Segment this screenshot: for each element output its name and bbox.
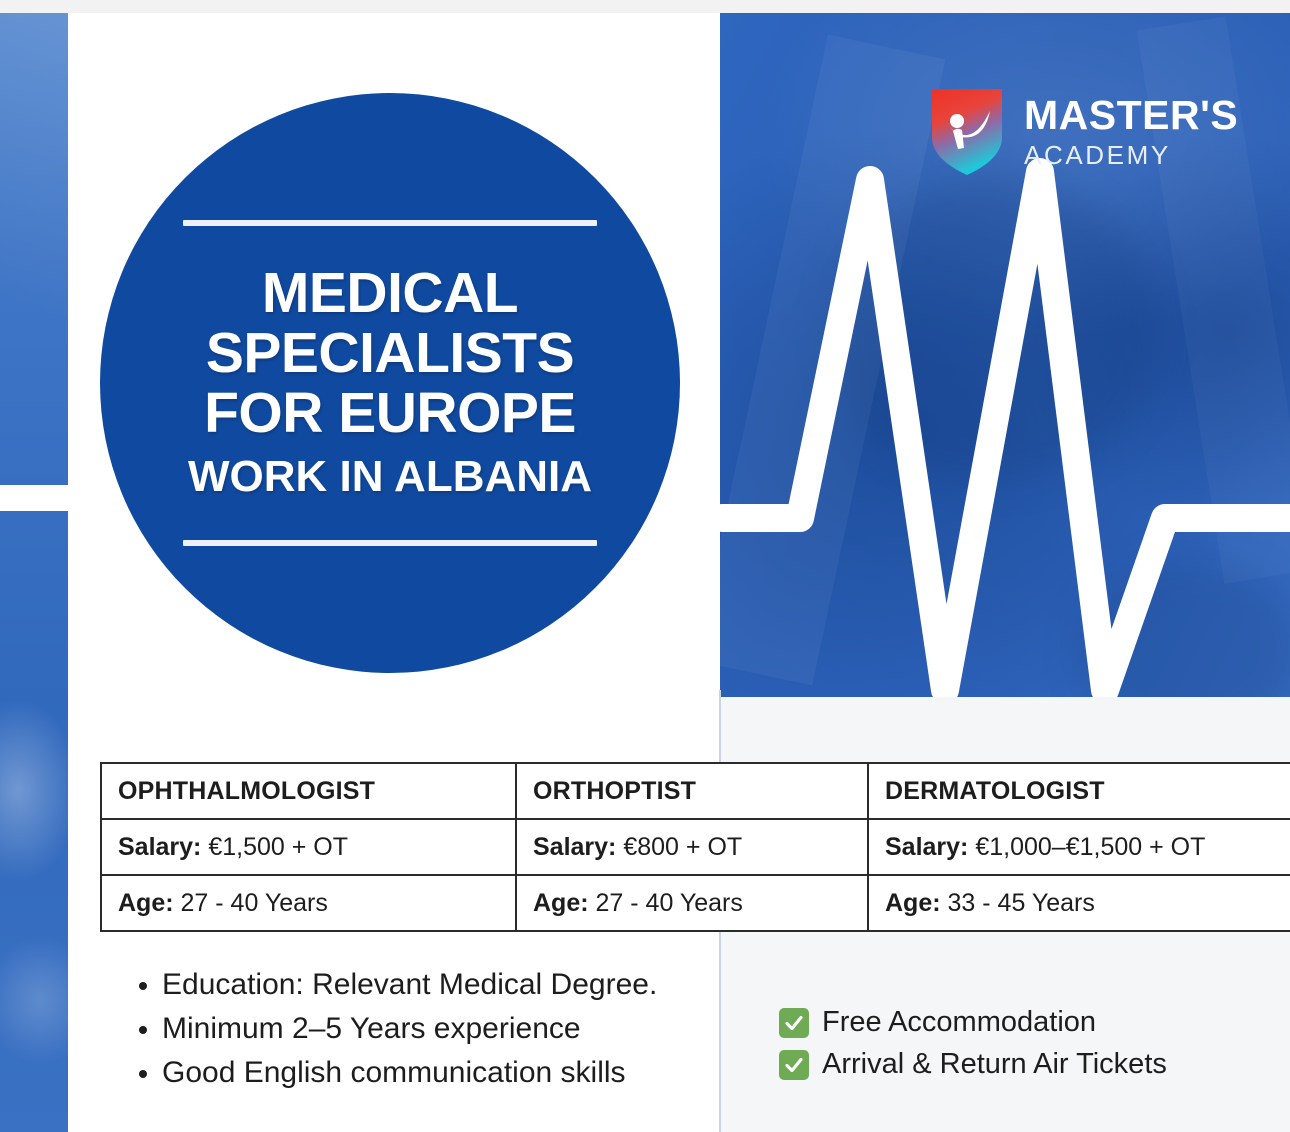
age-value: 27 - 40 Years	[181, 889, 328, 917]
benefits-list: Free Accommodation Arrival & Return Air …	[779, 1006, 1167, 1090]
list-item: Minimum 2–5 Years experience	[162, 1007, 657, 1051]
benefit-label: Arrival & Return Air Tickets	[822, 1048, 1167, 1081]
job-advert-poster: MEDICALSPECIALISTSFOR EUROPE WORK IN ALB…	[0, 0, 1290, 1132]
badge-bottom-rule	[183, 540, 597, 546]
age-cell: Age: 27 - 40 Years	[516, 875, 868, 931]
check-mark-button-icon	[779, 1008, 809, 1038]
headline-line-2: SPECIALISTS	[206, 321, 574, 385]
brand-logo: MASTER'S ACADEMY	[928, 85, 1238, 177]
benefit-label: Free Accommodation	[822, 1006, 1096, 1039]
age-value: 27 - 40 Years	[596, 889, 743, 917]
age-label: Age:	[118, 889, 174, 917]
age-label: Age:	[885, 889, 941, 917]
salary-label: Salary:	[533, 833, 616, 861]
table-header-cell: ORTHOPTIST	[516, 763, 868, 819]
salary-value: €1,500 + OT	[208, 833, 348, 861]
brand-name-primary: MASTER'S	[1024, 95, 1238, 136]
age-label: Age:	[533, 889, 589, 917]
list-item: Education: Relevant Medical Degree.	[162, 963, 657, 1007]
list-item: Good English communication skills	[162, 1051, 657, 1095]
age-value: 33 - 45 Years	[948, 889, 1095, 917]
screenshot-top-strip	[0, 0, 1290, 13]
requirements-list: Education: Relevant Medical Degree. Mini…	[118, 963, 657, 1095]
check-mark-button-icon	[779, 1050, 809, 1080]
background-left-strip	[0, 0, 70, 1132]
salary-label: Salary:	[118, 833, 201, 861]
job-roles-table: OPHTHALMOLOGIST ORTHOPTIST DERMATOLOGIST…	[100, 762, 1290, 932]
table-row-age: Age: 27 - 40 Years Age: 27 - 40 Years Ag…	[101, 875, 1290, 931]
salary-cell: Salary: €800 + OT	[516, 819, 868, 875]
headline-line-1: MEDICAL	[262, 261, 518, 325]
list-item: Free Accommodation	[779, 1006, 1167, 1039]
table-header-cell: OPHTHALMOLOGIST	[101, 763, 516, 819]
badge-top-rule	[183, 220, 597, 226]
list-item: Arrival & Return Air Tickets	[779, 1048, 1167, 1081]
salary-value: €1,000–€1,500 + OT	[975, 833, 1205, 861]
table-header-row: OPHTHALMOLOGIST ORTHOPTIST DERMATOLOGIST	[101, 763, 1290, 819]
headline-line-3: FOR EUROPE	[204, 381, 576, 445]
table-row-salary: Salary: €1,500 + OT Salary: €800 + OT Sa…	[101, 819, 1290, 875]
shield-icon	[928, 85, 1006, 177]
page-subtitle: WORK IN ALBANIA	[188, 454, 592, 500]
table-header-cell: DERMATOLOGIST	[868, 763, 1290, 819]
headline-badge: MEDICALSPECIALISTSFOR EUROPE WORK IN ALB…	[100, 93, 680, 673]
salary-cell: Salary: €1,500 + OT	[101, 819, 516, 875]
salary-label: Salary:	[885, 833, 968, 861]
salary-cell: Salary: €1,000–€1,500 + OT	[868, 819, 1290, 875]
brand-name-secondary: ACADEMY	[1024, 142, 1238, 168]
age-cell: Age: 33 - 45 Years	[868, 875, 1290, 931]
page-title: MEDICALSPECIALISTSFOR EUROPE	[204, 264, 576, 444]
salary-value: €800 + OT	[623, 833, 742, 861]
age-cell: Age: 27 - 40 Years	[101, 875, 516, 931]
